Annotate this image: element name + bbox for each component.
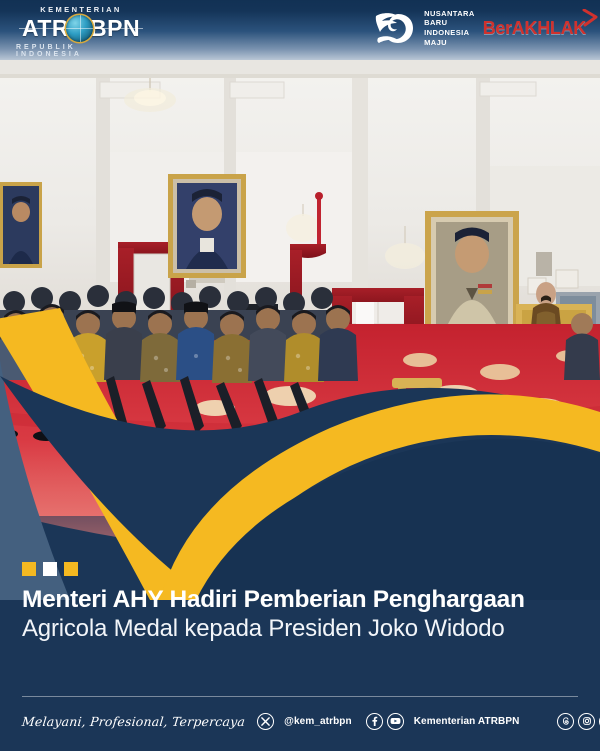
social-account-facebook-youtube[interactable]: Kementerian ATRBPN: [366, 713, 520, 730]
youtube-icon[interactable]: [387, 713, 404, 730]
accent-square-gold-1: [22, 562, 36, 576]
anniversary-line-1: NUSANTARA: [424, 9, 475, 19]
ministry-logo-republik: REPUBLIK INDONESIA: [16, 44, 146, 58]
social-account-threads-instagram-tiktok[interactable]: @kementerian.atrbpn: [557, 713, 600, 730]
social-account-x[interactable]: @kem_atrbpn: [257, 713, 352, 730]
x-icon[interactable]: [257, 713, 274, 730]
ministry-logo-atr: ATR: [22, 17, 69, 40]
accent-squares: [22, 562, 78, 576]
x-handle: @kem_atrbpn: [284, 716, 352, 727]
poster-footer: Melayani, Profesional, Terpercaya @kem_a…: [0, 681, 600, 751]
footer-divider: [22, 696, 578, 697]
ministry-logo-kementerian: KEMENTERIAN: [40, 6, 121, 14]
anniversary-line-4: MAJU: [424, 38, 475, 48]
accent-square-gold-2: [64, 562, 78, 576]
anniversary-line-2: BARU: [424, 18, 475, 28]
facebook-icon[interactable]: [366, 713, 383, 730]
poster: KEMENTERIAN ATR BPN REPUBLIK INDONESIA: [0, 0, 600, 751]
footer-social-row: Melayani, Profesional, Terpercaya @kem_a…: [22, 708, 582, 734]
header-right-logos: NUSANTARA BARU INDONESIA MAJU BerAKHLAK: [372, 6, 592, 50]
berakhlak-logo: BerAKHLAK: [483, 18, 592, 39]
poster-header: KEMENTERIAN ATR BPN REPUBLIK INDONESIA: [0, 0, 600, 60]
swoosh-icon: [582, 9, 599, 31]
footer-tagline: Melayani, Profesional, Terpercaya: [21, 714, 246, 729]
berakhlak-text: BerAKHLAK: [483, 18, 586, 38]
anniversary-79-icon: [372, 8, 416, 48]
article-text-block: Menteri AHY Hadiri Pemberian Penghargaan…: [0, 548, 600, 678]
globe-icon: [66, 15, 93, 42]
anniversary-tagline: NUSANTARA BARU INDONESIA MAJU: [424, 9, 475, 47]
accent-square-white: [43, 562, 57, 576]
ministry-logo: KEMENTERIAN ATR BPN REPUBLIK INDONESIA: [16, 9, 146, 55]
article-headline: Menteri AHY Hadiri Pemberian Penghargaan: [22, 586, 582, 613]
facebook-youtube-handle: Kementerian ATRBPN: [414, 716, 520, 727]
ministry-logo-wordmark: ATR BPN: [17, 15, 145, 42]
threads-icon[interactable]: [557, 713, 574, 730]
anniversary-line-3: INDONESIA: [424, 28, 475, 38]
instagram-icon[interactable]: [578, 713, 595, 730]
article-subheadline: Agricola Medal kepada Presiden Joko Wido…: [22, 616, 582, 643]
ministry-logo-bpn: BPN: [90, 17, 140, 40]
